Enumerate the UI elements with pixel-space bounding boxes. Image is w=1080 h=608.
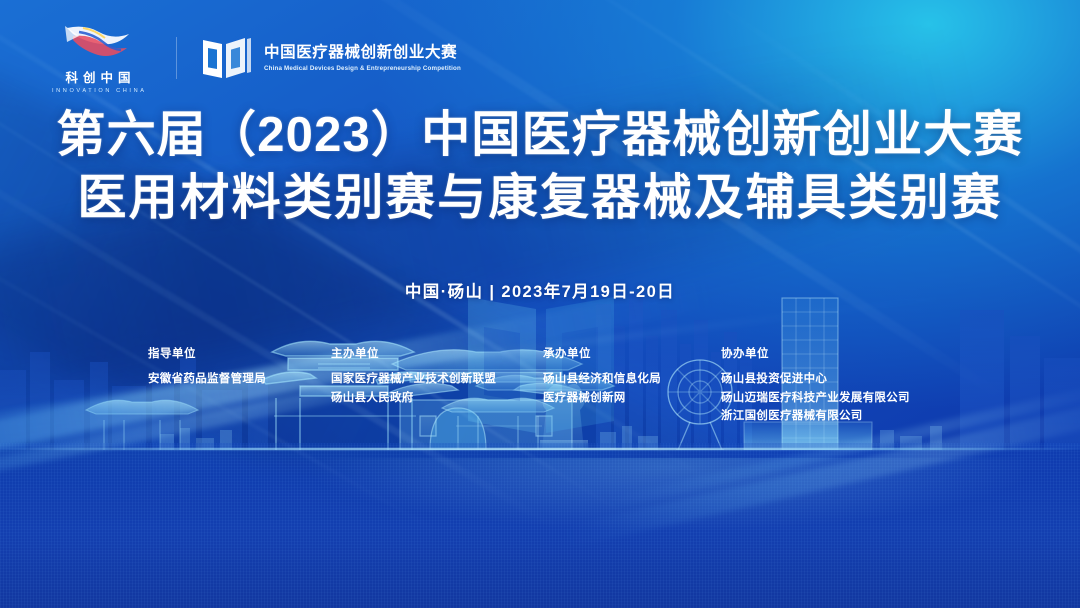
organizer-unit: 砀山县人民政府 (331, 389, 543, 408)
organizer-role-label: 协办单位 (721, 345, 910, 361)
innovation-china-en-label: INNOVATION CHINA (49, 88, 146, 94)
organizer-column-undertaker: 承办单位 砀山县经济和信息化局 医疗器械创新网 (543, 345, 721, 426)
organizer-column-coorganizer: 协办单位 砀山县投资促进中心 砀山迈瑞医疗科技产业发展有限公司 浙江国创医疗器械… (721, 345, 910, 426)
organizer-role-label: 承办单位 (543, 345, 721, 361)
organizer-unit: 砀山县投资促进中心 (721, 370, 910, 389)
organizer-unit: 浙江国创医疗器械有限公司 (721, 407, 910, 426)
competition-cn-label: 中国医疗器械创新创业大赛 (264, 44, 461, 62)
organizer-column-host: 主办单位 国家医疗器械产业技术创新联盟 砀山县人民政府 (331, 345, 543, 426)
logo-divider (176, 37, 177, 79)
open-book-door-mark-icon (201, 35, 253, 81)
organizer-column-guidance: 指导单位 安徽省药品监督管理局 (148, 345, 331, 426)
poster-title: 第六届（2023）中国医疗器械创新创业大赛 医用材料类别赛与康复器械及辅具类别赛 (0, 104, 1080, 229)
innovation-china-bird-icon (59, 22, 137, 64)
innovation-china-logo: 科创中国 INNOVATION CHINA (44, 22, 152, 94)
event-location-date: 中国·砀山 | 2023年7月19日-20日 (0, 278, 1080, 302)
organizer-unit: 安徽省药品监督管理局 (148, 370, 331, 389)
competition-en-label: China Medical Devices Design & Entrepren… (264, 65, 461, 72)
header-logos: 科创中国 INNOVATION CHINA 中国医疗器械创新创业大赛 China… (44, 22, 461, 94)
organizer-role-label: 主办单位 (331, 345, 543, 361)
competition-logo: 中国医疗器械创新创业大赛 China Medical Devices Desig… (201, 35, 461, 81)
title-line-2: 医用材料类别赛与康复器械及辅具类别赛 (0, 167, 1080, 230)
organizer-unit: 医疗器械创新网 (543, 389, 721, 408)
ground-reflection-glow (0, 458, 1080, 608)
poster-canvas: 科创中国 INNOVATION CHINA 中国医疗器械创新创业大赛 China… (0, 0, 1080, 608)
horizon-glow-line (0, 448, 1080, 450)
organizer-unit: 砀山迈瑞医疗科技产业发展有限公司 (721, 389, 910, 408)
organizers-block: 指导单位 安徽省药品监督管理局 主办单位 国家医疗器械产业技术创新联盟 砀山县人… (148, 345, 978, 426)
title-line-1: 第六届（2023）中国医疗器械创新创业大赛 (0, 104, 1080, 167)
organizer-unit: 砀山县经济和信息化局 (543, 370, 721, 389)
innovation-china-cn-label: 科创中国 (60, 67, 135, 86)
organizer-unit: 国家医疗器械产业技术创新联盟 (331, 370, 543, 389)
organizer-role-label: 指导单位 (148, 345, 331, 361)
competition-logo-text: 中国医疗器械创新创业大赛 China Medical Devices Desig… (264, 44, 461, 72)
